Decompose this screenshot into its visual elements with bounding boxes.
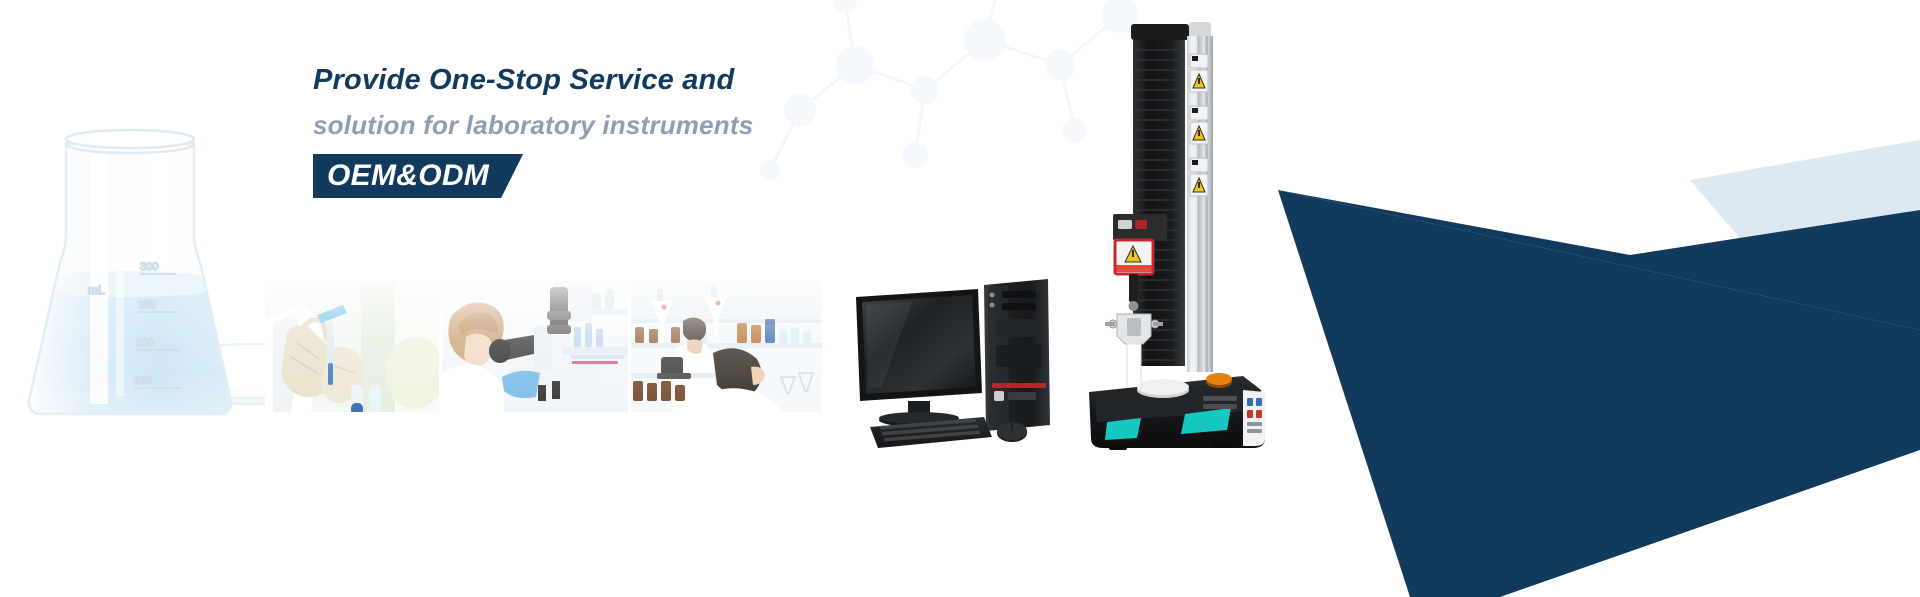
photo-microscope-researcher bbox=[442, 281, 628, 412]
oem-odm-badge: OEM&ODM bbox=[313, 154, 523, 198]
badge-row: OEM&ODM bbox=[313, 154, 933, 198]
flask-graduation-150: 150 bbox=[134, 375, 152, 387]
flask-unit-label: mL bbox=[88, 283, 105, 297]
lab-photo-strip bbox=[265, 281, 822, 412]
computer-mouse bbox=[997, 422, 1027, 442]
erlenmeyer-flask: 300 250 200 150 mL bbox=[18, 130, 248, 432]
flask-graduation-250: 250 bbox=[138, 299, 156, 311]
navy-arrow-lower bbox=[1278, 190, 1920, 597]
headline-block: Provide One-Stop Service and solution fo… bbox=[313, 58, 933, 198]
tester-hazard-labels bbox=[1190, 54, 1208, 196]
flask-graduation-300: 300 bbox=[140, 261, 158, 273]
universal-tensile-testing-machine bbox=[1085, 18, 1310, 450]
promo-banner: 300 250 200 150 mL Provide One-Stop Serv… bbox=[0, 0, 1920, 597]
light-wedge-shape bbox=[1690, 140, 1920, 420]
headline-line-2: solution for laboratory instruments bbox=[313, 102, 933, 148]
headline-line-1: Provide One-Stop Service and bbox=[313, 58, 933, 102]
computer-monitor bbox=[856, 289, 982, 427]
tester-base-console bbox=[1089, 373, 1265, 450]
computer-tower bbox=[984, 279, 1050, 431]
photo-pipetting-gloved-hands bbox=[265, 281, 439, 412]
navy-arrow-upper bbox=[1278, 190, 1920, 330]
desktop-computer-workstation bbox=[852, 275, 1082, 450]
flask-graduation-200: 200 bbox=[136, 337, 154, 349]
photo-lab-technicians-bench bbox=[631, 281, 822, 412]
